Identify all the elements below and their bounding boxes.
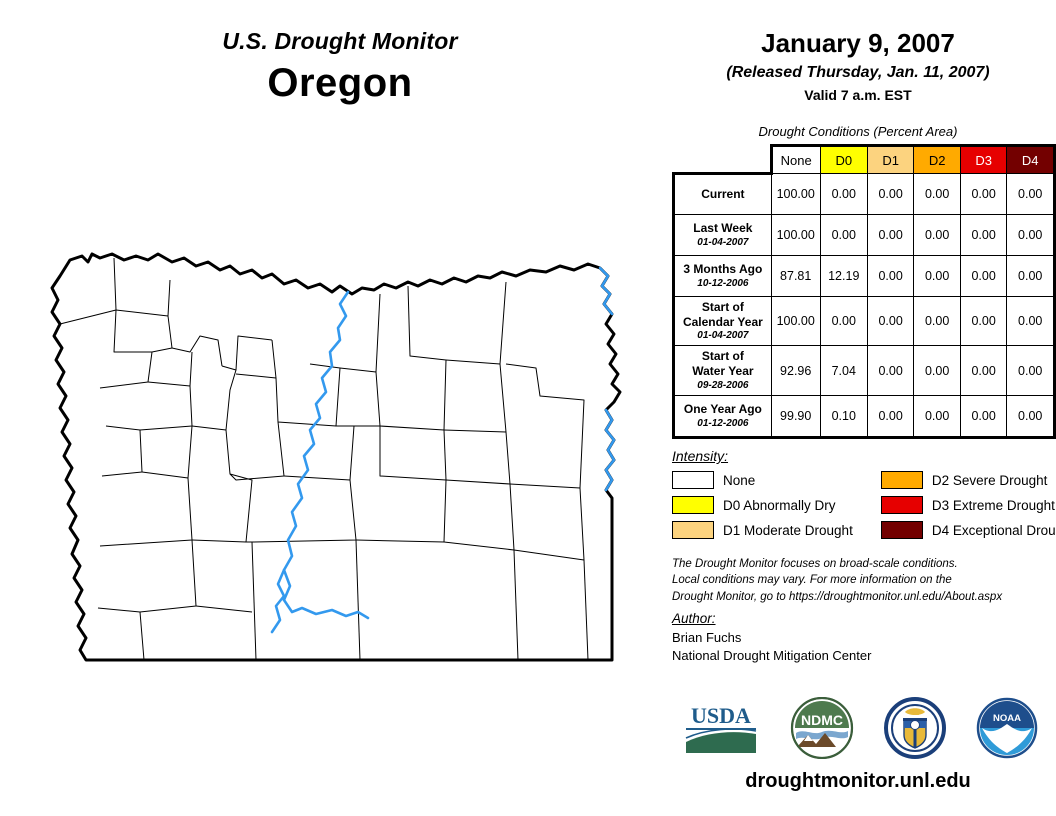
page-title: Oregon	[40, 61, 640, 106]
legend-swatch-icon	[881, 521, 923, 539]
cell-d0: 7.04	[820, 346, 867, 395]
cell-none: 92.96	[771, 346, 820, 395]
svg-text:NDMC: NDMC	[801, 712, 843, 728]
cell-d0: 0.10	[820, 395, 867, 437]
cell-d1: 0.00	[867, 346, 914, 395]
legend-label: None	[723, 473, 755, 488]
disclaimer-line-1: The Drought Monitor focuses on broad-sca…	[672, 556, 1052, 572]
column-header-d3: D3	[960, 146, 1007, 174]
cell-d1: 0.00	[867, 215, 914, 256]
legend-item: D2 Severe Drought	[881, 471, 1056, 489]
table-row: Current100.000.000.000.000.000.00	[674, 174, 1055, 215]
valid-date: January 9, 2007	[660, 28, 1056, 59]
noaa-logo: NOAA	[976, 697, 1038, 759]
row-label: One Year Ago01-12-2006	[674, 395, 772, 437]
legend-label: D4 Exceptional Drought	[932, 523, 1056, 538]
cell-d0: 12.19	[820, 256, 867, 297]
intensity-legend: Intensity: NoneD0 Abnormally DryD1 Moder…	[672, 448, 1052, 539]
author-label: Author:	[672, 611, 1052, 626]
map-svg[interactable]	[40, 240, 640, 700]
cell-d3: 0.00	[960, 395, 1007, 437]
table-row: NoneD0D1D2D3D4	[674, 146, 1055, 174]
cell-d2: 0.00	[914, 215, 961, 256]
table-caption: Drought Conditions (Percent Area)	[660, 124, 1056, 139]
header-corner-blank	[674, 146, 772, 174]
cell-d2: 0.00	[914, 395, 961, 437]
program-title: U.S. Drought Monitor	[40, 28, 640, 55]
usdoc-seal	[883, 697, 947, 759]
cell-d1: 0.00	[867, 256, 914, 297]
svg-text:NOAA: NOAA	[993, 713, 1021, 724]
table-row: Last Week01-04-2007100.000.000.000.000.0…	[674, 215, 1055, 256]
row-date: 01-12-2006	[679, 418, 767, 430]
date-header: January 9, 2007 (Released Thursday, Jan.…	[660, 28, 1056, 103]
cell-d3: 0.00	[960, 297, 1007, 346]
map-title-block: U.S. Drought Monitor Oregon	[40, 28, 640, 106]
column-header-d4: D4	[1007, 146, 1055, 174]
table-row: 3 Months Ago10-12-200687.8112.190.000.00…	[674, 256, 1055, 297]
cell-d2: 0.00	[914, 256, 961, 297]
row-date: 01-04-2007	[679, 330, 767, 342]
cell-d4: 0.00	[1007, 174, 1055, 215]
valid-time: Valid 7 a.m. EST	[660, 87, 1056, 103]
legend-swatch-icon	[672, 521, 714, 539]
column-header-d0: D0	[820, 146, 867, 174]
cell-d4: 0.00	[1007, 297, 1055, 346]
legend-item: D1 Moderate Drought	[672, 521, 853, 539]
cell-none: 100.00	[771, 215, 820, 256]
legend-swatch-icon	[672, 496, 714, 514]
table-body: Current100.000.000.000.000.000.00Last We…	[674, 174, 1055, 438]
legend-item: None	[672, 471, 853, 489]
cell-none: 87.81	[771, 256, 820, 297]
intensity-legend-title: Intensity:	[672, 448, 1052, 464]
cell-d0: 0.00	[820, 215, 867, 256]
table-header-row: NoneD0D1D2D3D4	[674, 146, 1055, 174]
website-url: droughtmonitor.unl.edu	[660, 770, 1056, 793]
legend-column-right: D2 Severe DroughtD3 Extreme DroughtD4 Ex…	[881, 471, 1056, 539]
table-row: Start ofCalendar Year01-04-2007100.000.0…	[674, 297, 1055, 346]
cell-d4: 0.00	[1007, 215, 1055, 256]
legend-label: D3 Extreme Drought	[932, 498, 1055, 513]
release-date: (Released Thursday, Jan. 11, 2007)	[660, 64, 1056, 82]
author-organization: National Drought Mitigation Center	[672, 647, 1052, 665]
author-block: Author: Brian Fuchs National Drought Mit…	[672, 611, 1052, 666]
author-name: Brian Fuchs	[672, 629, 1052, 647]
cell-d3: 0.00	[960, 215, 1007, 256]
drought-conditions-table: NoneD0D1D2D3D4 Current100.000.000.000.00…	[672, 144, 1056, 439]
svg-text:USDA: USDA	[691, 703, 751, 728]
cell-d3: 0.00	[960, 174, 1007, 215]
cell-d3: 0.00	[960, 256, 1007, 297]
table-row: Start ofWater Year09-28-200692.967.040.0…	[674, 346, 1055, 395]
legend-label: D1 Moderate Drought	[723, 523, 853, 538]
row-label: Start ofCalendar Year01-04-2007	[674, 297, 772, 346]
table-row: One Year Ago01-12-200699.900.100.000.000…	[674, 395, 1055, 437]
cell-d3: 0.00	[960, 346, 1007, 395]
cell-d1: 0.00	[867, 395, 914, 437]
row-label: Last Week01-04-2007	[674, 215, 772, 256]
cell-d2: 0.00	[914, 174, 961, 215]
legend-swatch-icon	[881, 496, 923, 514]
ndmc-logo: NDMC	[789, 697, 855, 759]
row-label: 3 Months Ago10-12-2006	[674, 256, 772, 297]
column-header-d2: D2	[914, 146, 961, 174]
oregon-drought-map[interactable]	[40, 240, 640, 700]
agency-logos: USDA NDMC NOAA	[668, 692, 1052, 764]
cell-d4: 0.00	[1007, 256, 1055, 297]
cell-d1: 0.00	[867, 297, 914, 346]
cell-d4: 0.00	[1007, 395, 1055, 437]
cell-none: 100.00	[771, 297, 820, 346]
column-header-d1: D1	[867, 146, 914, 174]
cell-d2: 0.00	[914, 297, 961, 346]
cell-d4: 0.00	[1007, 346, 1055, 395]
cell-d0: 0.00	[820, 297, 867, 346]
disclaimer-line-2: Local conditions may vary. For more info…	[672, 572, 1052, 588]
usda-logo: USDA	[682, 698, 760, 758]
legend-item: D4 Exceptional Drought	[881, 521, 1056, 539]
row-label: Start ofWater Year09-28-2006	[674, 346, 772, 395]
cell-d2: 0.00	[914, 346, 961, 395]
legend-item: D0 Abnormally Dry	[672, 496, 853, 514]
legend-label: D0 Abnormally Dry	[723, 498, 836, 513]
row-date: 01-04-2007	[679, 237, 767, 249]
row-date: 09-28-2006	[679, 380, 767, 392]
disclaimer-line-3: Drought Monitor, go to https://droughtmo…	[672, 589, 1052, 605]
legend-item: D3 Extreme Drought	[881, 496, 1056, 514]
legend-swatch-icon	[881, 471, 923, 489]
oregon-state-border	[52, 254, 620, 660]
disclaimer-text: The Drought Monitor focuses on broad-sca…	[672, 556, 1052, 605]
legend-column-left: NoneD0 Abnormally DryD1 Moderate Drought	[672, 471, 853, 539]
cell-none: 100.00	[771, 174, 820, 215]
cell-d0: 0.00	[820, 174, 867, 215]
cell-d1: 0.00	[867, 174, 914, 215]
row-date: 10-12-2006	[679, 278, 767, 290]
cell-none: 99.90	[771, 395, 820, 437]
legend-label: D2 Severe Drought	[932, 473, 1048, 488]
column-header-none: None	[771, 146, 820, 174]
legend-swatch-icon	[672, 471, 714, 489]
row-label: Current	[674, 174, 772, 215]
